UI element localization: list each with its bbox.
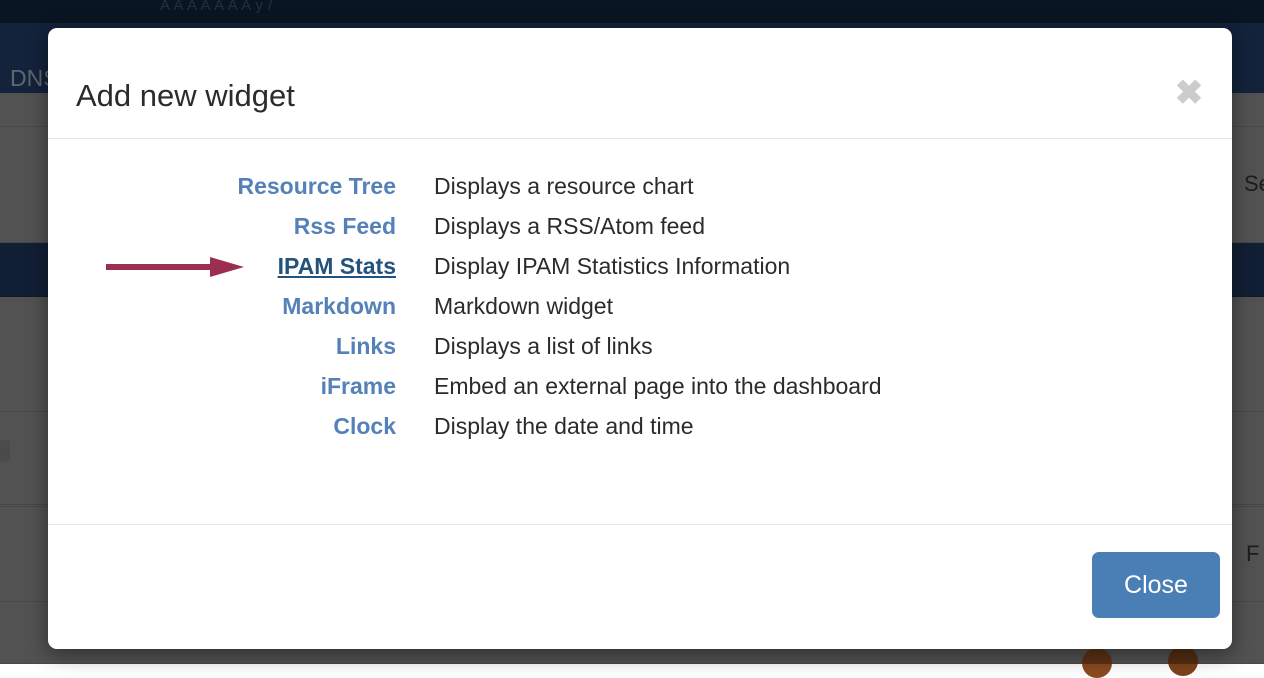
widget-name-cell: Links: [48, 326, 396, 370]
widget-description: Displays a RSS/Atom feed: [396, 206, 1232, 246]
widget-description: Display the date and time: [396, 406, 1232, 446]
widget-description: Displays a list of links: [396, 326, 1232, 366]
widget-description: Display IPAM Statistics Information: [396, 246, 1232, 286]
widget-description: Displays a resource chart: [396, 166, 1232, 206]
annotation-arrow: [106, 257, 246, 277]
widget-row: LinksDisplays a list of links: [48, 326, 1232, 366]
widget-link-links[interactable]: Links: [336, 333, 396, 359]
widget-link-resource-tree[interactable]: Resource Tree: [237, 173, 396, 199]
widget-link-markdown[interactable]: Markdown: [282, 293, 396, 319]
modal-header: Add new widget ✖: [48, 28, 1232, 139]
widget-list: Resource TreeDisplays a resource chartRs…: [48, 166, 1232, 446]
widget-name-cell: iFrame: [48, 366, 396, 410]
widget-row: IPAM StatsDisplay IPAM Statistics Inform…: [48, 246, 1232, 286]
widget-name-cell: Clock: [48, 406, 396, 450]
widget-row: iFrameEmbed an external page into the da…: [48, 366, 1232, 406]
widget-name-cell: Markdown: [48, 286, 396, 330]
widget-link-clock[interactable]: Clock: [333, 413, 396, 439]
add-widget-modal: Add new widget ✖ Resource TreeDisplays a…: [48, 28, 1232, 649]
widget-description: Embed an external page into the dashboar…: [396, 366, 1232, 406]
widget-link-rss-feed[interactable]: Rss Feed: [294, 213, 396, 239]
modal-footer: Close: [48, 524, 1232, 648]
widget-row: Rss FeedDisplays a RSS/Atom feed: [48, 206, 1232, 246]
modal-body: Resource TreeDisplays a resource chartRs…: [48, 139, 1232, 524]
close-button[interactable]: Close: [1092, 552, 1220, 618]
widget-description: Markdown widget: [396, 286, 1232, 326]
widget-link-ipam-stats[interactable]: IPAM Stats: [278, 253, 396, 279]
close-icon[interactable]: ✖: [1172, 76, 1206, 110]
widget-link-iframe[interactable]: iFrame: [321, 373, 396, 399]
widget-name-cell: IPAM Stats: [48, 246, 396, 290]
widget-name-cell: Rss Feed: [48, 206, 396, 250]
widget-row: ClockDisplay the date and time: [48, 406, 1232, 446]
widget-row: MarkdownMarkdown widget: [48, 286, 1232, 326]
page-title: Add new widget: [76, 80, 295, 111]
widget-row: Resource TreeDisplays a resource chart: [48, 166, 1232, 206]
widget-name-cell: Resource Tree: [48, 166, 396, 210]
